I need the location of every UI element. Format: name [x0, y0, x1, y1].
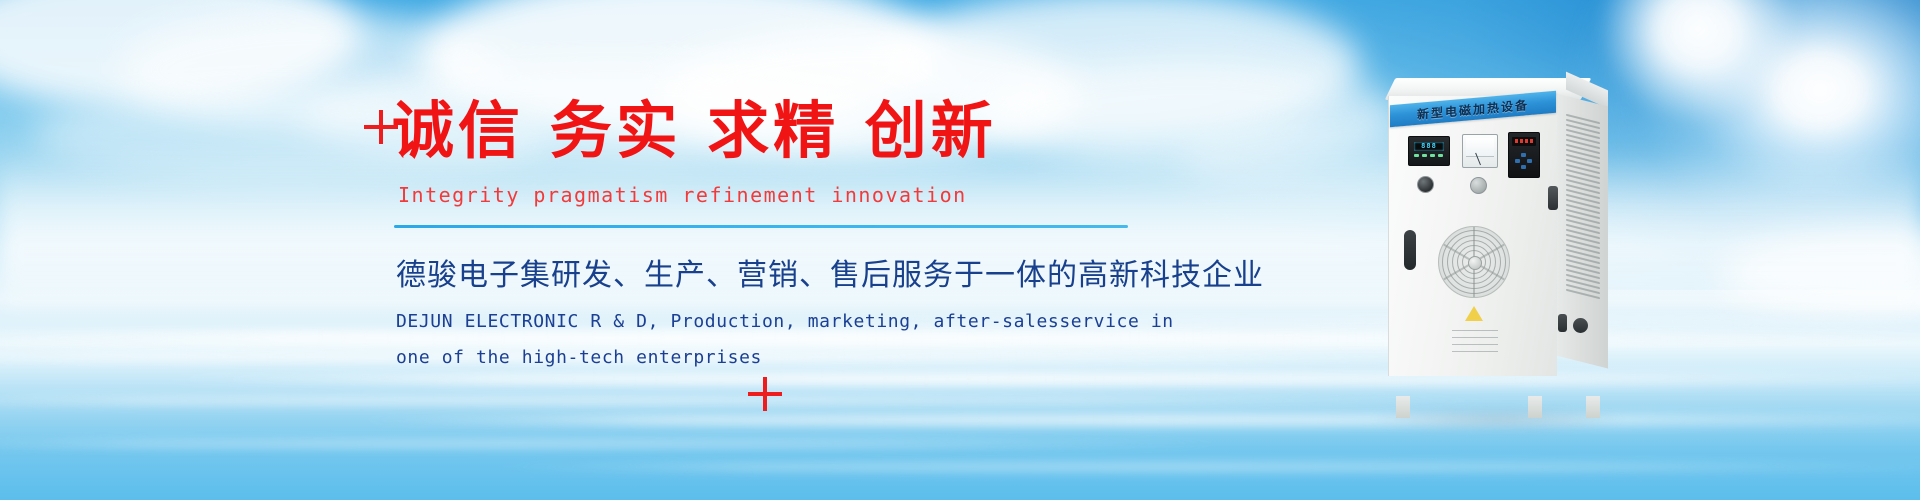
- warning-triangle-icon: [1465, 306, 1483, 321]
- door-handle[interactable]: [1548, 186, 1558, 210]
- plus-marker-icon: [748, 377, 782, 411]
- product-image-heating-machine: 新型电磁加热设备 888: [1380, 78, 1610, 418]
- machine-vent-louvers: [1566, 114, 1600, 302]
- banner-text-block: 诚信 务实 求精 创新 Integrity pragmatism refinem…: [392, 96, 1232, 375]
- digital-temperature-display: 888: [1408, 136, 1450, 166]
- cooling-fan-grille: [1438, 226, 1510, 298]
- sun-core-icon: [1598, 0, 1798, 124]
- selector-knob[interactable]: [1417, 176, 1434, 193]
- controller-keypad: [1508, 132, 1540, 178]
- analog-ammeter: [1462, 134, 1498, 168]
- divider-line: [394, 225, 1128, 228]
- cable-port: [1573, 318, 1588, 333]
- banner-tagline-en: DEJUN ELECTRONIC R & D, Production, mark…: [396, 304, 1186, 374]
- hero-banner: 诚信 务实 求精 创新 Integrity pragmatism refinem…: [0, 0, 1920, 500]
- banner-headline-en: Integrity pragmatism refinement innovati…: [398, 183, 1232, 207]
- adjust-knob[interactable]: [1470, 177, 1487, 194]
- digital-display-value: 888: [1414, 142, 1444, 151]
- banner-tagline-cn: 德骏电子集研发、生产、营销、售后服务于一体的高新科技企业: [396, 250, 1232, 294]
- power-socket: [1558, 314, 1567, 332]
- side-vent-strip: [1404, 230, 1416, 270]
- banner-headline-cn: 诚信 务实 求精 创新: [392, 96, 1232, 165]
